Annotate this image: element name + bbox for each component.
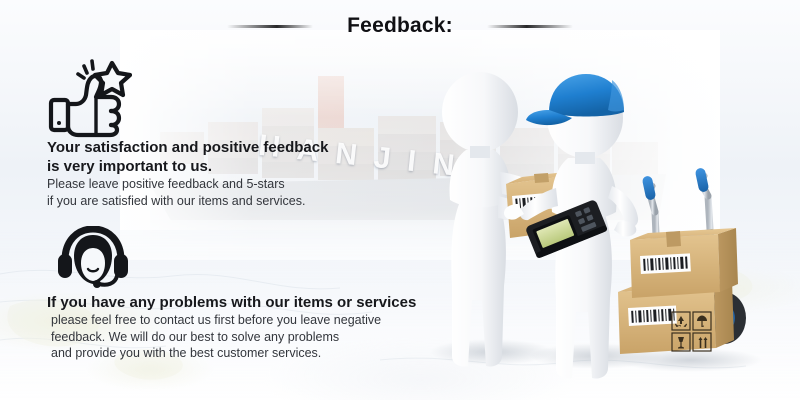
problems-body-line-1: please feel free to contact us first bef… xyxy=(47,312,416,329)
banner-title-row: Feedback: xyxy=(0,8,800,44)
problems-body-line-2: feedback. We will do our best to solve a… xyxy=(47,329,416,346)
page-title: Feedback: xyxy=(347,14,453,38)
title-rule-right xyxy=(487,25,573,28)
problems-text-block: If you have any problems with our items … xyxy=(47,293,416,362)
problems-body-line-3: and provide you with the best customer s… xyxy=(47,345,416,362)
satisfaction-body-line-2: if you are satisfied with our items and … xyxy=(47,193,328,210)
satisfaction-body-line-1: Please leave positive feedback and 5-sta… xyxy=(47,176,328,193)
satisfaction-heading-line-1: Your satisfaction and positive feedback xyxy=(47,138,328,157)
customer-support-headset-icon xyxy=(57,226,129,288)
feedback-banner: HANJIN Feedback: xyxy=(0,0,800,400)
thumbs-up-star-icon xyxy=(48,56,132,138)
title-rule-left xyxy=(227,25,313,28)
satisfaction-text-block: Your satisfaction and positive feedback … xyxy=(47,138,328,209)
problems-heading-line-1: If you have any problems with our items … xyxy=(47,293,416,312)
satisfaction-heading-line-2: is very important to us. xyxy=(47,157,328,176)
